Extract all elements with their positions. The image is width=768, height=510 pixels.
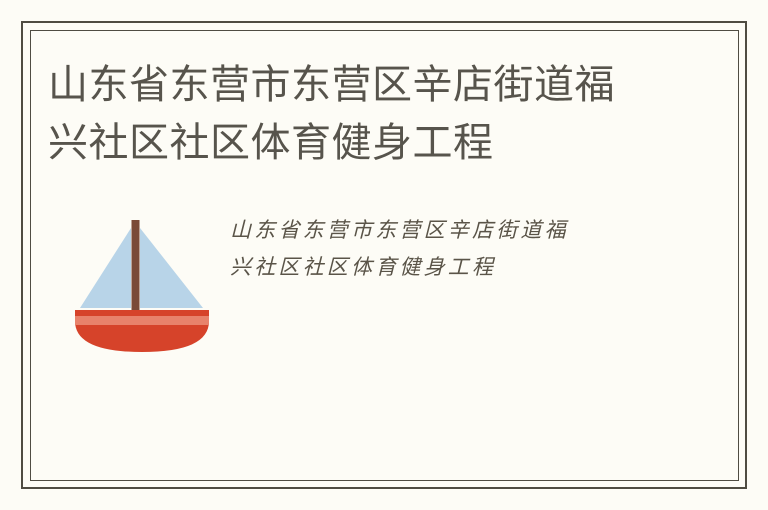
sailboat-icon (72, 212, 222, 357)
right-sail-shape (140, 228, 203, 308)
left-sail-shape (80, 228, 131, 308)
caption-text: 山东省东营市东营区辛店街道福 兴社区社区体育健身工程 (230, 212, 670, 286)
content-row: 山东省东营市东营区辛店街道福 兴社区社区体育健身工程 (48, 200, 708, 370)
caption-line-1: 山东省东营市东营区辛店街道福 (230, 212, 670, 249)
title-line-2: 兴社区社区体育健身工程 (48, 114, 668, 172)
poster-card: 山东省东营市东营区辛店街道福 兴社区社区体育健身工程 山东省东营市东营区辛店街道… (0, 0, 768, 510)
title-line-1: 山东省东营市东营区辛店街道福 (48, 56, 668, 114)
caption-line-2: 兴社区社区体育健身工程 (230, 249, 670, 286)
mast-shape (132, 220, 140, 323)
hull-stripe-shape (75, 316, 209, 325)
page-title: 山东省东营市东营区辛店街道福 兴社区社区体育健身工程 (48, 56, 668, 172)
